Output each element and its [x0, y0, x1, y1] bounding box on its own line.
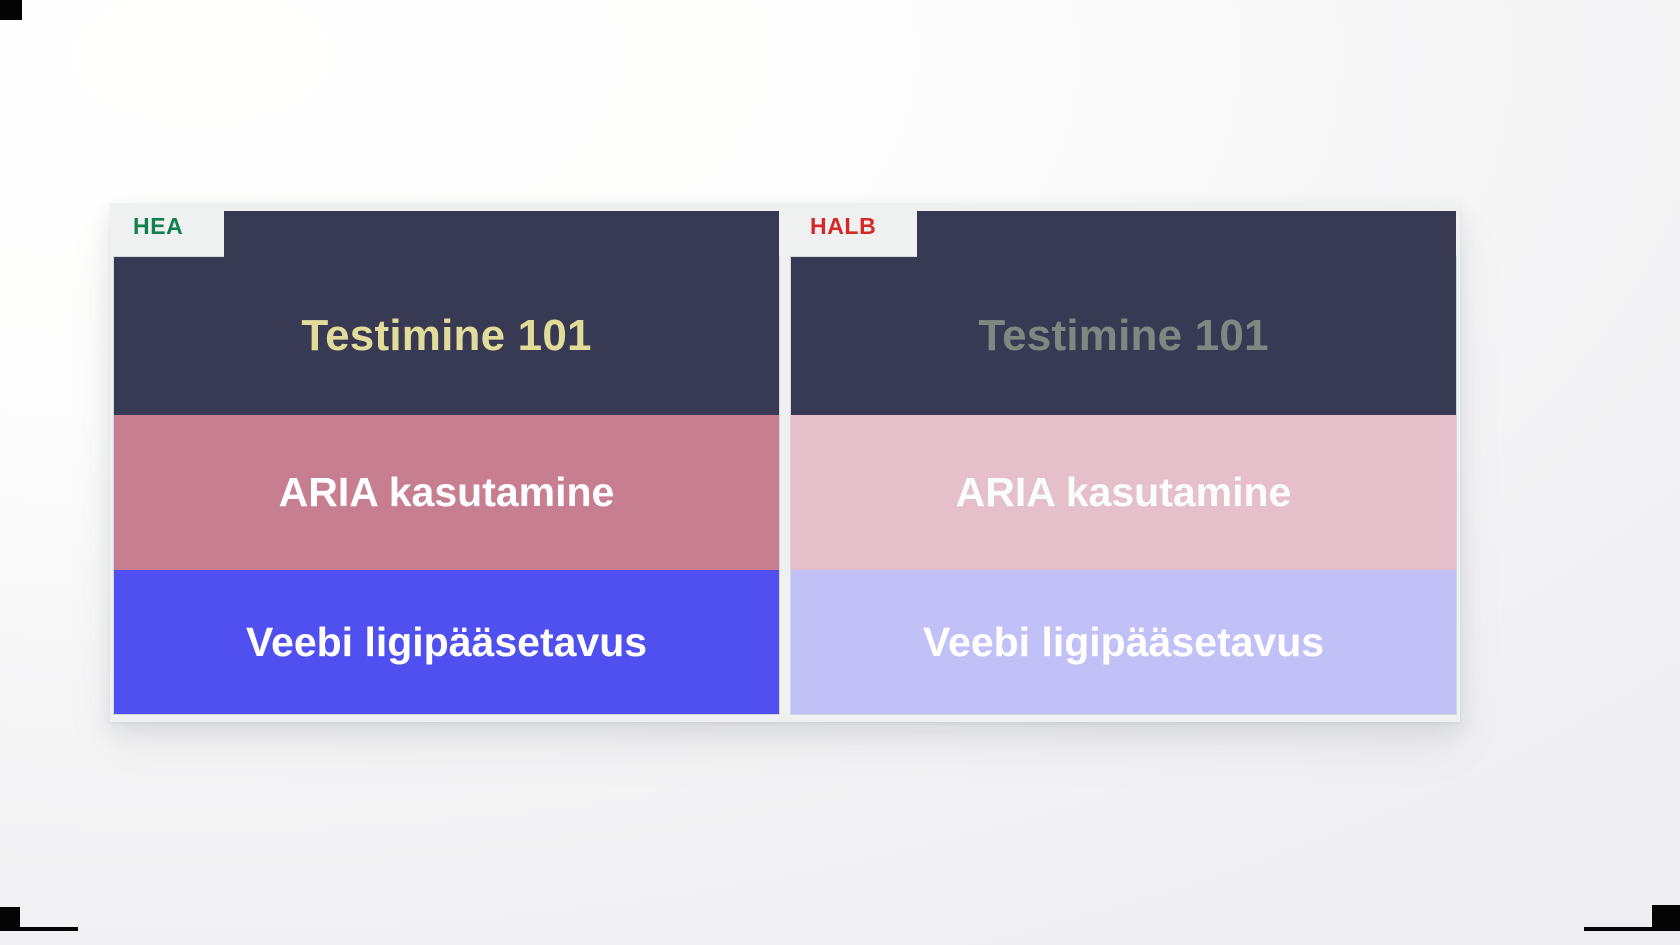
- page-background: HEA Testimine 101 ARIA kasutamine Veebi …: [0, 0, 1680, 945]
- crop-mark-bottom-left-bar: [0, 927, 78, 931]
- variant-bad: HALB Testimine 101 ARIA kasutamine Veebi…: [787, 203, 1460, 722]
- crop-mark-bottom-right-bar: [1584, 927, 1680, 931]
- good-band-title: Testimine 101: [114, 257, 779, 415]
- comparison-columns: HEA Testimine 101 ARIA kasutamine Veebi …: [110, 203, 1460, 722]
- crop-mark-top-left: [0, 0, 22, 20]
- slide-preview-bad[interactable]: Testimine 101 ARIA kasutamine Veebi ligi…: [791, 257, 1456, 714]
- bad-band-title: Testimine 101: [791, 257, 1456, 415]
- bad-band-middle: ARIA kasutamine: [791, 415, 1456, 570]
- variant-good: HEA Testimine 101 ARIA kasutamine Veebi …: [110, 203, 783, 722]
- badge-hea: HEA: [133, 215, 183, 238]
- good-band-bottom: Veebi ligipääsetavus: [114, 570, 779, 714]
- bad-band-bottom: Veebi ligipääsetavus: [791, 570, 1456, 714]
- good-title-band-bleed: [224, 211, 779, 257]
- crop-mark-bottom-right: [1652, 905, 1680, 927]
- contrast-comparison-card: HEA Testimine 101 ARIA kasutamine Veebi …: [110, 203, 1460, 722]
- crop-mark-bottom-left: [0, 907, 20, 927]
- bad-title-band-bleed: [917, 211, 1456, 257]
- badge-halb: HALB: [810, 215, 876, 238]
- good-band-middle: ARIA kasutamine: [114, 415, 779, 570]
- slide-preview-good[interactable]: Testimine 101 ARIA kasutamine Veebi ligi…: [114, 257, 779, 714]
